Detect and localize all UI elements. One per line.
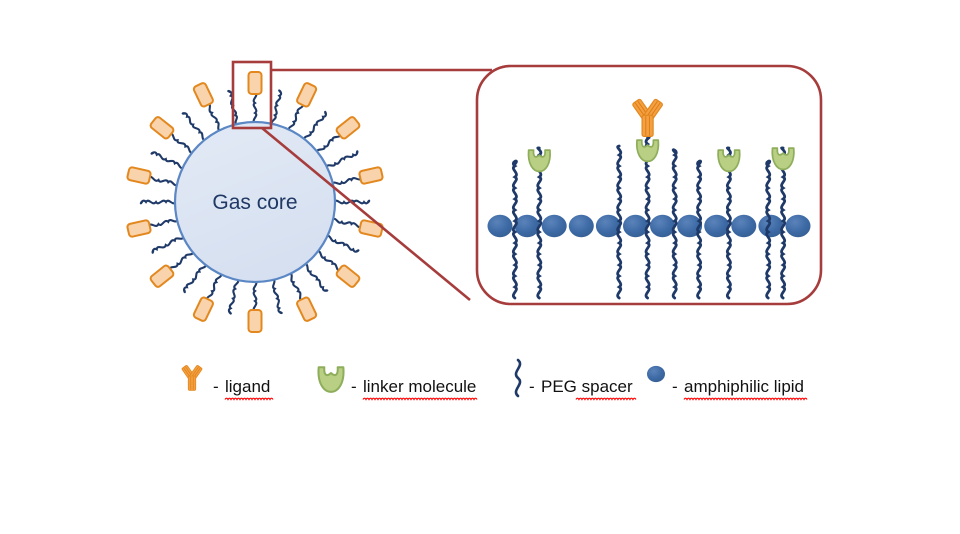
peg-spoke [228, 279, 238, 314]
legend-dash-linker: - [351, 377, 357, 396]
legend-item-ligand: - ligand [182, 365, 273, 400]
peg-spoke [148, 218, 178, 227]
peg-spoke [206, 273, 221, 301]
legend-dash-peg: - [529, 377, 535, 396]
surface-ligand [249, 72, 262, 94]
spellcheck-underline-lipid [684, 398, 807, 399]
ligand-icon [182, 365, 203, 390]
peg-spoke [183, 263, 207, 292]
peg-spoke [288, 103, 303, 131]
legend-item-peg: - PEG spacer [516, 360, 636, 400]
peg-spoke [271, 90, 281, 125]
legend-dash-lipid: - [672, 377, 678, 396]
legend-label-peg: PEG spacer [541, 377, 633, 396]
peg-spoke [316, 250, 341, 271]
peg-spoke [206, 103, 221, 131]
surface-ligand [296, 296, 317, 321]
linker-molecule-icon [318, 367, 343, 392]
microbubble-diagram: Gas core - [0, 0, 960, 534]
surface-ligand [249, 310, 262, 332]
legend-label-lipid: amphiphilic lipid [684, 377, 804, 396]
surface-ligand [127, 167, 151, 185]
peg-spacer-icon [516, 360, 520, 396]
peg-spoke [271, 279, 281, 314]
legend-label-ligand: ligand [225, 377, 270, 396]
legend: - ligand - linker molecule - PEG spacer [182, 360, 807, 411]
amphiphilic-lipid-icon [647, 366, 665, 412]
peg-spoke [169, 250, 194, 271]
gas-core-label: Gas core [212, 191, 297, 214]
peg-spoke [151, 151, 184, 169]
peg-spoke [326, 235, 359, 253]
peg-spoke [183, 112, 207, 141]
surface-ligand [149, 116, 174, 140]
peg-spoke [303, 263, 327, 292]
legend-item-lipid: - amphiphilic lipid [647, 366, 807, 412]
peg-spoke [303, 112, 327, 141]
surface-ligand [193, 296, 214, 321]
surface-ligand [296, 82, 317, 107]
surface-ligand [359, 220, 383, 238]
peg-spoke [332, 176, 362, 185]
surface-ligand [127, 220, 151, 238]
spellcheck-underline-peg [576, 398, 636, 399]
peg-spoke [288, 273, 303, 301]
peg-spoke [148, 176, 178, 185]
microbubble-graphic: Gas core [127, 72, 383, 332]
peg-spoke [151, 235, 184, 253]
spellcheck-underline-linker [363, 398, 477, 399]
peg-spoke [141, 201, 176, 204]
legend-label-linker: linker molecule [363, 377, 476, 396]
peg-spoke [316, 133, 341, 154]
peg-spoke [169, 133, 194, 154]
peg-spoke [326, 151, 359, 169]
figure-canvas: Gas core - [0, 0, 960, 534]
peg-spoke [332, 218, 362, 227]
legend-item-linker: - linker molecule [318, 367, 477, 399]
surface-ligand [335, 264, 360, 288]
peg-spoke [254, 93, 257, 123]
surface-ligand [359, 167, 383, 185]
spellcheck-underline-ligand [225, 398, 273, 399]
peg-spoke [254, 281, 257, 311]
surface-ligand [193, 82, 214, 107]
legend-dash-ligand: - [213, 377, 219, 396]
